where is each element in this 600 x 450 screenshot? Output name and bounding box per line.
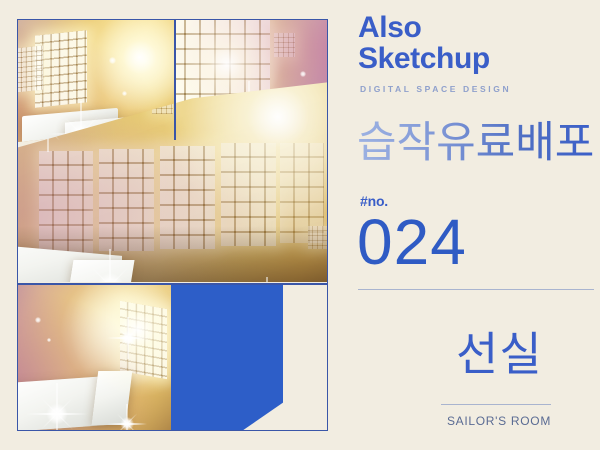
- room-title-english: SAILOR'S ROOM: [424, 414, 574, 428]
- brand-line-1: Also: [358, 11, 421, 44]
- collage-panel-bottom-left: [18, 285, 171, 431]
- headline-korean: 습작유료배포: [357, 118, 594, 168]
- text-column: Also Sketchup DIGITAL SPACE DESIGN 습작유료배…: [357, 0, 600, 450]
- collage-divider-vertical-top: [174, 20, 176, 140]
- collage-blue-block: [171, 285, 283, 431]
- divider-rule-bottom: [441, 404, 551, 405]
- image-collage: [17, 19, 328, 431]
- collage-empty-cell: [283, 285, 328, 431]
- number-value: 024: [357, 210, 467, 274]
- divider-rule-top: [358, 289, 594, 290]
- collage-divider-horizontal-bottom: [18, 283, 328, 285]
- brand-title: Also Sketchup: [358, 12, 490, 74]
- brand-tagline: DIGITAL SPACE DESIGN: [360, 84, 511, 94]
- room-title-korean: 선실: [456, 328, 543, 380]
- poster-canvas: Also Sketchup DIGITAL SPACE DESIGN 습작유료배…: [0, 0, 600, 450]
- photo-bottom-left-bed: [18, 285, 171, 431]
- brand-line-2: Sketchup: [358, 43, 490, 74]
